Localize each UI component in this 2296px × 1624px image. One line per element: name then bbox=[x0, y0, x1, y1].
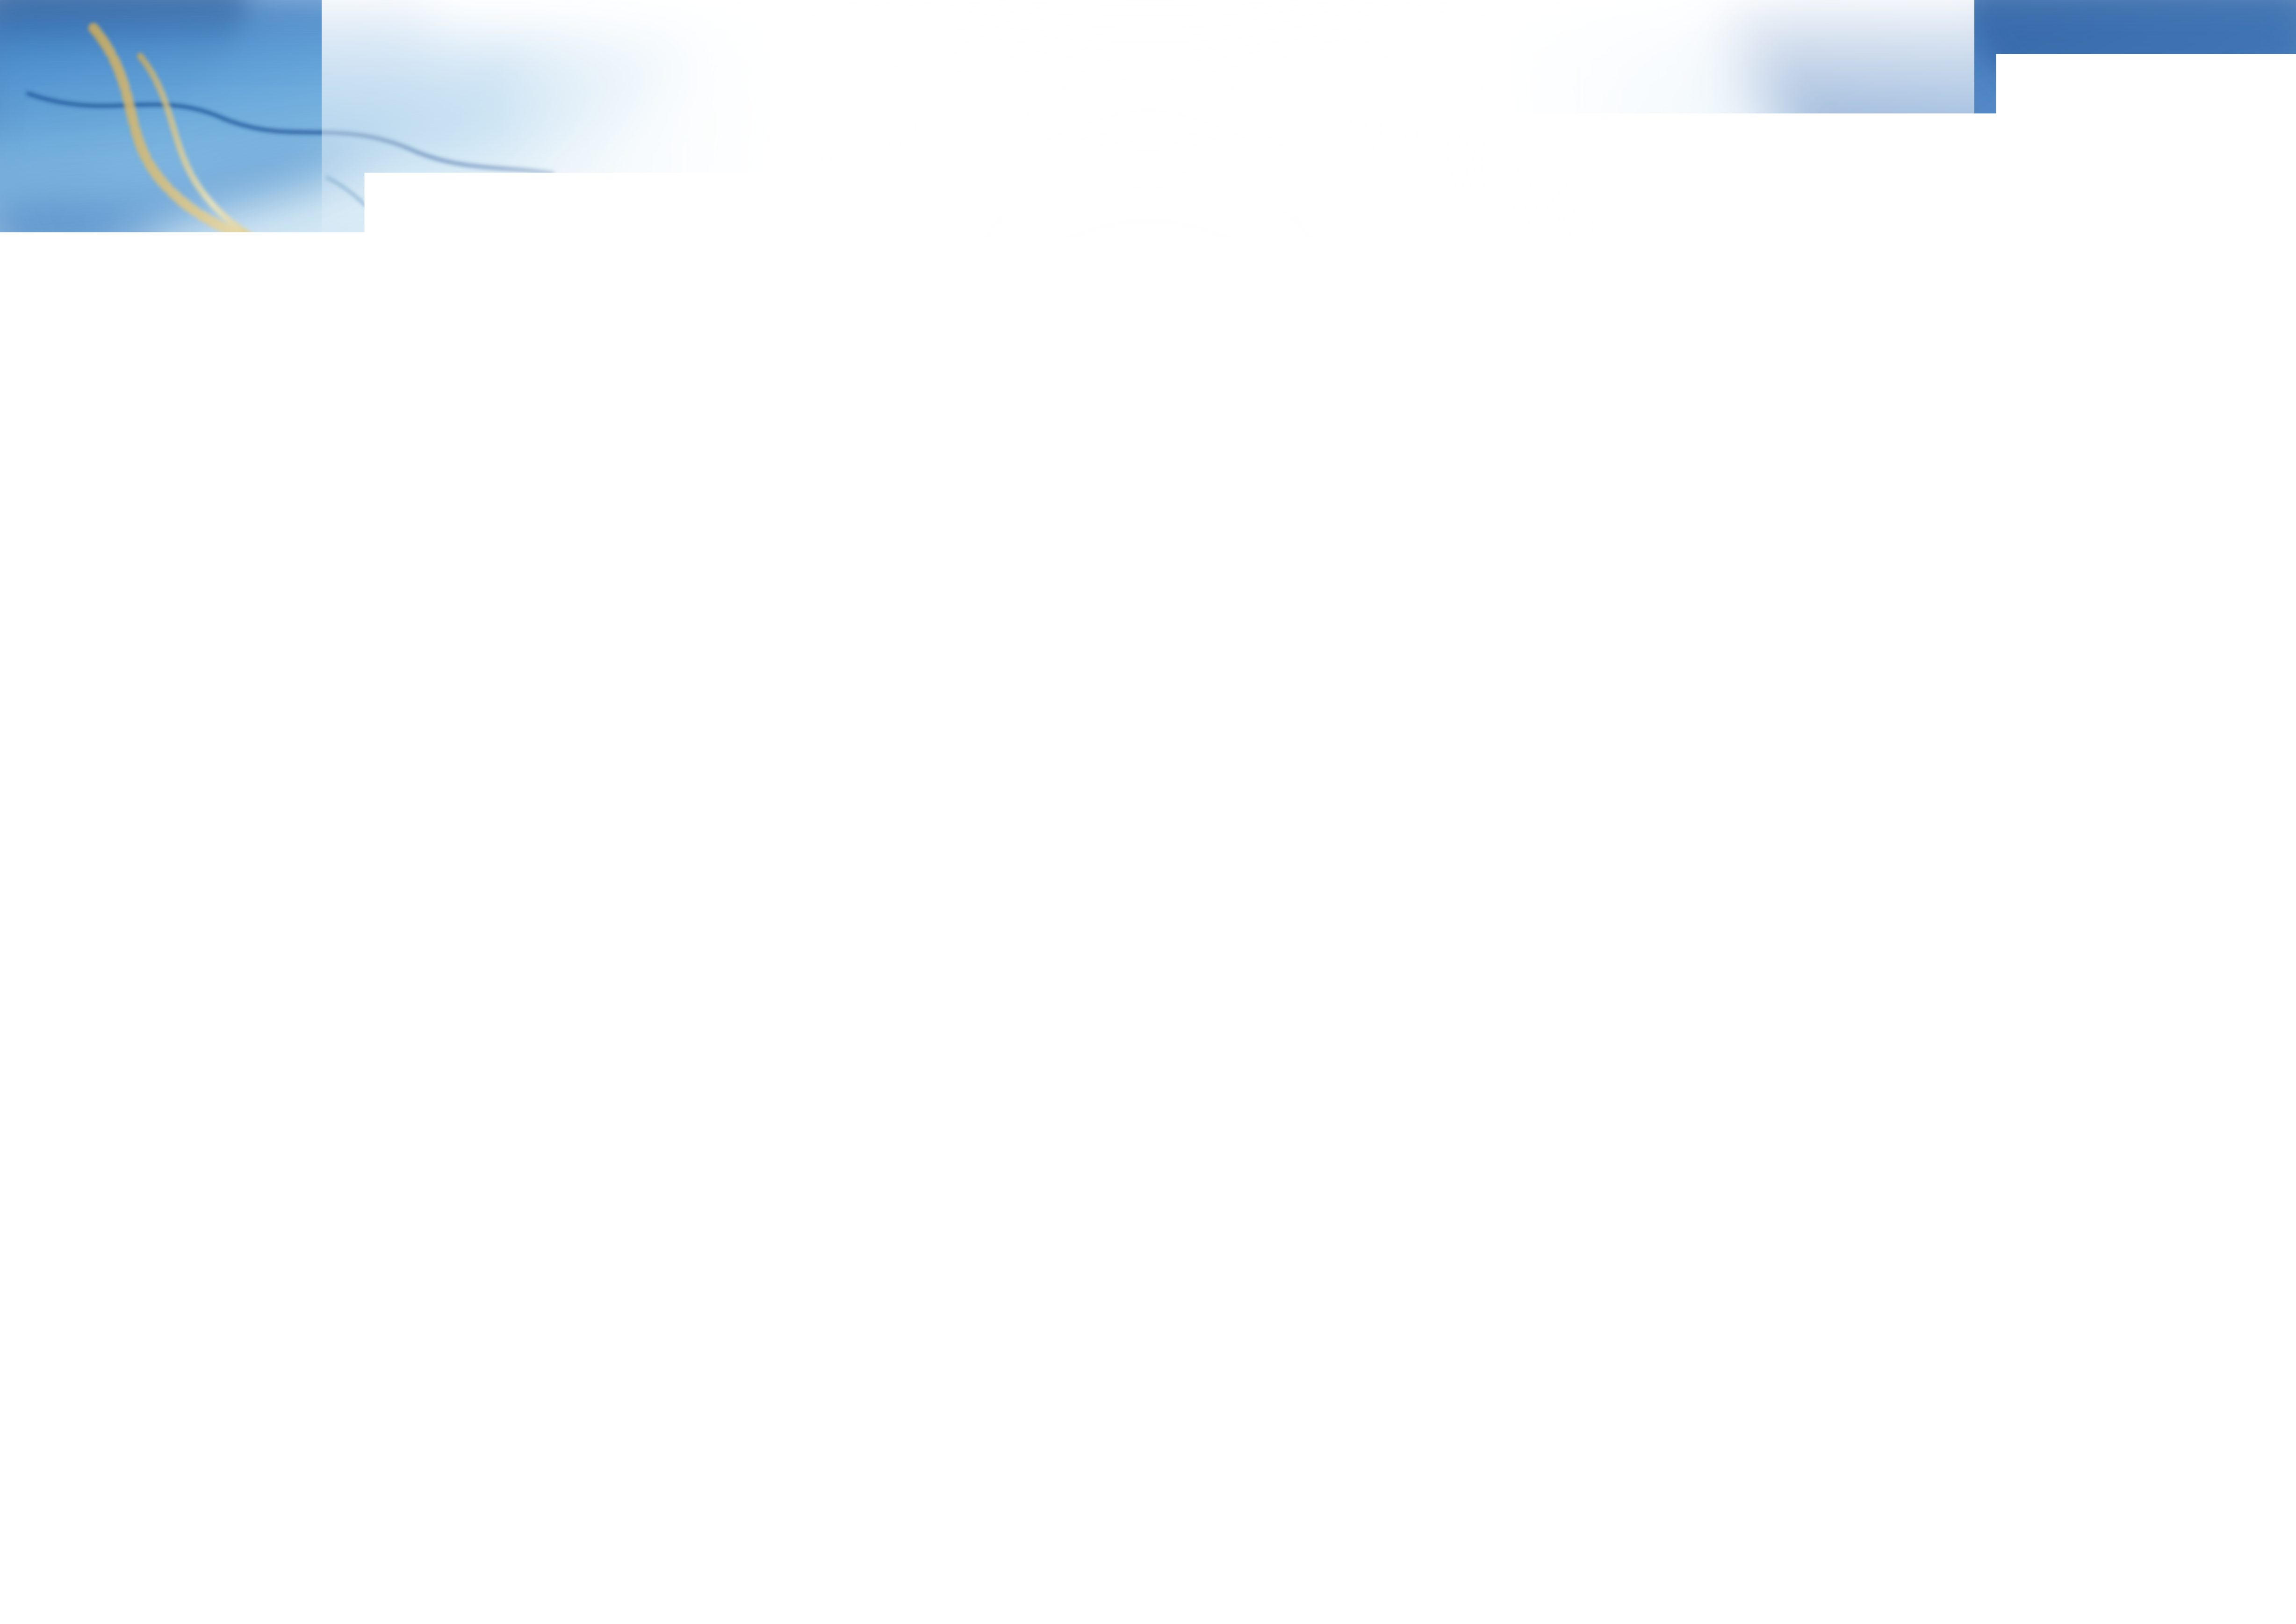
slide-title: درخواست حــذف تــرم بــدون احتســاب سنوا… bbox=[0, 613, 2296, 865]
slide-canvas: درخواست حــذف تــرم بــدون احتســاب سنوا… bbox=[0, 0, 2296, 1624]
top-white-fade bbox=[322, 0, 1975, 260]
title-line-2: سنوات نیمسال پنجم دانشجویان bbox=[0, 772, 2296, 865]
bottom-white-fade bbox=[322, 1397, 1975, 1624]
title-line-1: درخواست حــذف تــرم بــدون احتســاب bbox=[0, 613, 2296, 706]
